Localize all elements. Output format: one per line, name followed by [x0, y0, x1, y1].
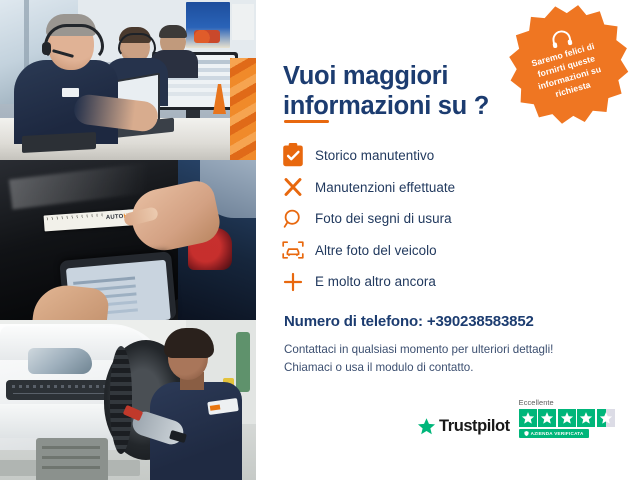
star-filled-icon — [538, 409, 556, 427]
page-title-line-2: informazioni su ? — [283, 92, 489, 120]
feature-list: Storico manutentivo Manutenzioni effettu… — [282, 142, 582, 300]
photo-autohero-ruler-on-car-body: AUTOHERO — [0, 160, 256, 320]
checklist-icon — [282, 147, 304, 165]
contact-description: Contattaci in qualsiasi momento per ulte… — [284, 341, 574, 378]
tool-cabinet-decor — [36, 438, 108, 480]
headset-decor — [44, 24, 104, 60]
feature-label: Altre foto del veicolo — [315, 243, 437, 258]
feature-item-foto-segni-usura: Foto dei segni di usura — [282, 205, 582, 232]
title-divider — [284, 120, 329, 123]
feature-item-altre-foto-veicolo: Altre foto del veicolo — [282, 237, 582, 264]
photo-call-center-agents-with-headsets — [0, 0, 256, 160]
feature-label: E molto altro ancora — [315, 274, 436, 289]
contact-description-line-2: Chiamaci o usa il modulo di contatto. — [284, 361, 473, 374]
trustpilot-logo: Trustpilot — [417, 417, 510, 438]
trustpilot-star-icon — [417, 417, 436, 436]
star-rating — [519, 409, 615, 427]
info-promo-card: AUTOHERO — [0, 0, 640, 480]
verified-label: AZIENDA VERIFICATA — [531, 431, 584, 436]
page-title-line-1: Vuoi maggiori — [283, 62, 448, 90]
verified-check-icon — [524, 431, 529, 436]
photo-column: AUTOHERO — [0, 0, 256, 480]
star-filled-icon — [519, 409, 537, 427]
headset-icon — [549, 29, 574, 49]
tire-tread-decor — [110, 346, 132, 454]
feature-label: Manutenzioni effettuate — [315, 180, 455, 195]
magnifier-icon — [282, 210, 304, 228]
page-title: Vuoi maggiori informazioni su ? — [283, 61, 533, 121]
content-panel: Vuoi maggiori informazioni su ? Sar — [256, 0, 640, 480]
name-tag-decor — [62, 88, 79, 97]
phone-number[interactable]: Numero di telefono: +390238583852 — [284, 313, 534, 330]
mechanic-hair-decor — [164, 328, 214, 358]
wall-notice-decor — [232, 4, 254, 40]
feature-label: Storico manutentivo — [315, 148, 434, 163]
rating-label: Eccellente — [519, 398, 554, 407]
star-filled-icon — [577, 409, 595, 427]
person-hair-decor — [159, 25, 187, 38]
headset-decor — [118, 33, 156, 57]
star-filled-icon — [558, 409, 576, 427]
star-half-icon — [597, 409, 615, 427]
tools-cross-icon — [282, 178, 304, 196]
trustpilot-score: Eccellente — [519, 398, 615, 438]
orange-banner-decor — [230, 58, 256, 160]
contact-description-line-1: Contattaci in qualsiasi momento per ulte… — [284, 343, 553, 356]
car-scan-icon — [282, 241, 304, 259]
feature-label: Foto dei segni di usura — [315, 211, 452, 226]
feature-item-molto-altro: E molto altro ancora — [282, 268, 582, 295]
photo-mechanic-inspecting-wheel — [0, 320, 256, 480]
feature-item-storico-manutentivo: Storico manutentivo — [282, 142, 582, 169]
headlight-decor — [28, 348, 92, 374]
trustpilot-rating[interactable]: Trustpilot Eccellente — [417, 398, 615, 438]
car-grille-decor — [6, 380, 112, 400]
plus-icon — [282, 273, 304, 291]
trustpilot-wordmark: Trustpilot — [439, 417, 510, 436]
wall-poster-decor — [186, 2, 230, 48]
verified-company-badge: AZIENDA VERIFICATA — [519, 429, 589, 438]
badge-text: Saremo felici di fornirti queste informa… — [517, 37, 619, 108]
request-info-badge: Saremo felici di fornirti queste informa… — [493, 0, 640, 141]
headset-earpiece-decor — [42, 42, 51, 55]
feature-item-manutenzioni-effettuate: Manutenzioni effettuate — [282, 174, 582, 201]
green-tool-decor — [236, 332, 250, 392]
